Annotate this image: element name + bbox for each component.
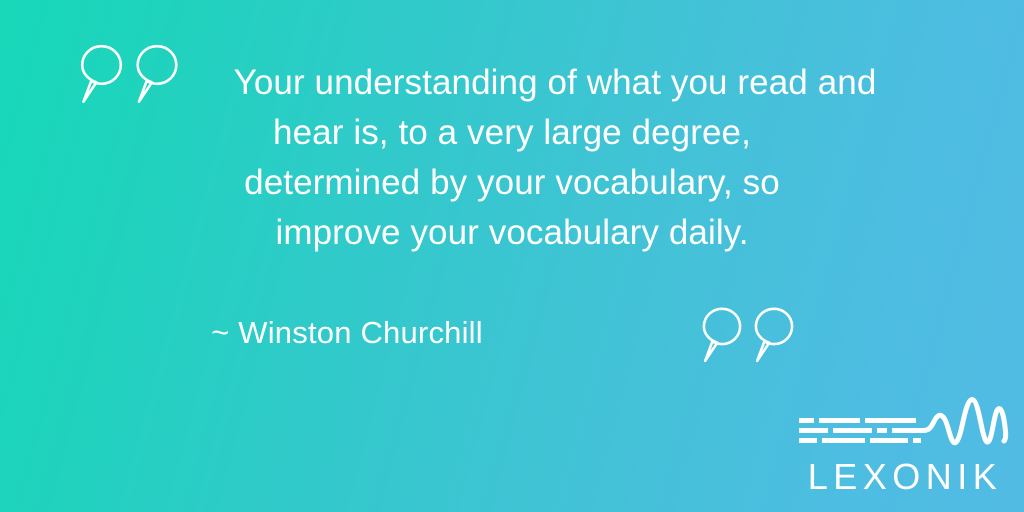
quote-line: determined by your vocabulary, so (0, 158, 1024, 208)
quote-line: improve your vocabulary daily. (0, 208, 1024, 258)
quote-line: hear is, to a very large degree, (0, 108, 1024, 158)
quote-line: Your understanding of what you read and (0, 58, 1024, 108)
text-lines-to-soundwave-icon (795, 396, 1010, 458)
lexonik-wordmark: LEXONIK (795, 456, 1010, 498)
quote-card: Your understanding of what you read and … (0, 0, 1024, 512)
lexonik-logo: LEXONIK (795, 396, 1010, 500)
quote-attribution: ~ Winston Churchill (0, 315, 1024, 351)
quote-text: Your understanding of what you read and … (0, 58, 1024, 258)
speech-bubble-quote-close-icon (700, 305, 800, 369)
